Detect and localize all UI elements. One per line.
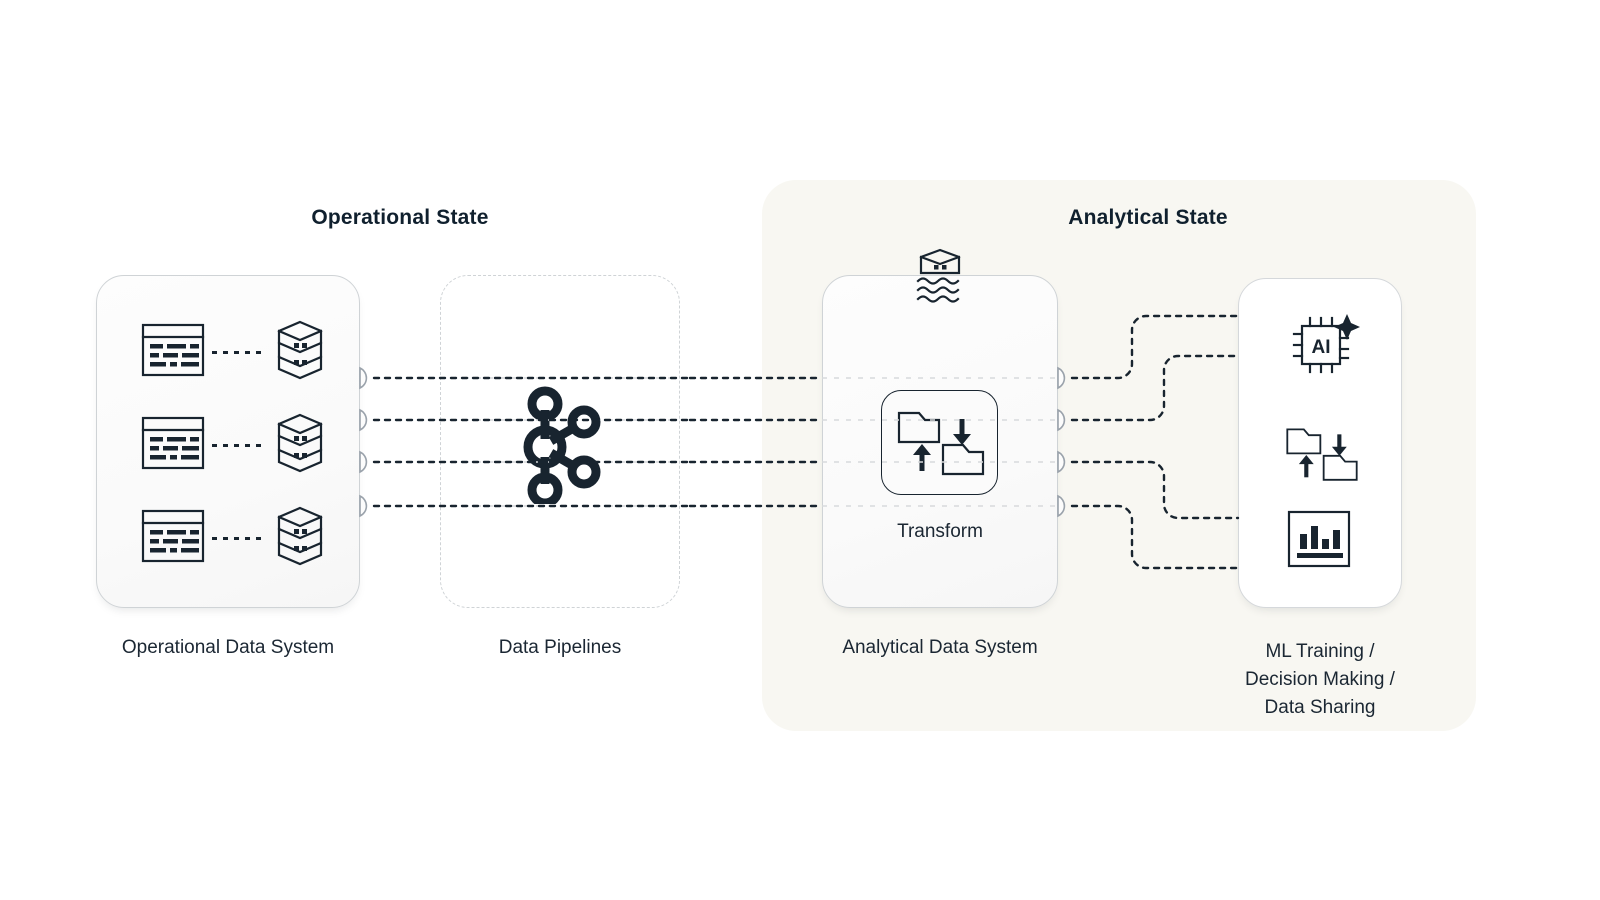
svg-text:AI: AI: [1312, 337, 1331, 358]
connector-nub: [360, 452, 366, 472]
folder-transfer-icon: [1284, 420, 1360, 495]
caption-analytical-data-system: Analytical Data System: [800, 634, 1080, 662]
caption-data-pipelines: Data Pipelines: [420, 634, 700, 662]
section-title-operational: Operational State: [200, 206, 600, 230]
data-lake-icon: [908, 247, 972, 314]
diagram-canvas: Operational State Analytical State: [0, 0, 1600, 900]
database-icon: [270, 412, 330, 479]
transform-label: Transform: [850, 521, 1030, 543]
application-window-icon: [140, 507, 206, 570]
operational-app-db-row: [140, 322, 330, 382]
app-db-link-line: [212, 351, 264, 354]
app-db-link-line: [212, 537, 264, 540]
ai-chip-icon: AI: [1284, 308, 1360, 389]
operational-app-db-row: [140, 415, 330, 475]
caption-ml-outputs: ML Training / Decision Making / Data Sha…: [1200, 638, 1440, 722]
app-db-link-line: [212, 444, 264, 447]
application-window-icon: [140, 414, 206, 477]
connector-nub: [360, 496, 366, 516]
caption-operational-data-system: Operational Data System: [68, 634, 388, 662]
transform-card[interactable]: [881, 390, 998, 495]
kafka-icon: [515, 384, 605, 509]
folder-transfer-icon: [895, 403, 987, 490]
application-window-icon: [140, 321, 206, 384]
connector-nub: [360, 410, 366, 430]
section-title-analytical: Analytical State: [948, 206, 1348, 230]
connector-nub: [360, 368, 366, 388]
ods-connector-nubs: [360, 368, 366, 516]
database-icon: [270, 319, 330, 386]
operational-app-db-row: [140, 508, 330, 568]
database-icon: [270, 505, 330, 572]
bar-chart-report-icon: [1284, 508, 1354, 575]
